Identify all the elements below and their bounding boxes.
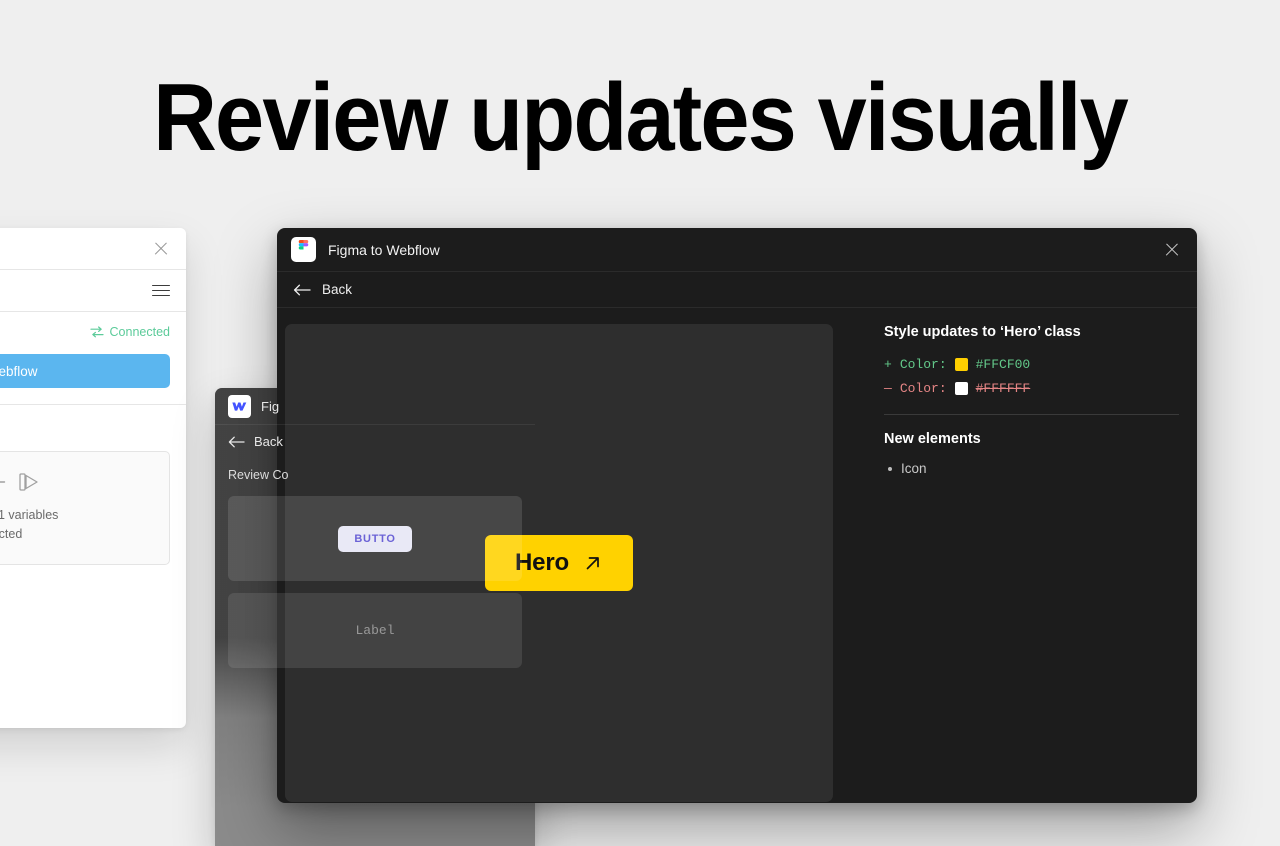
diff-op-added: +: [884, 357, 892, 372]
left-panel-divider: [0, 404, 186, 405]
diff-value-removed: #FFFFFF: [976, 381, 1031, 396]
close-icon[interactable]: [152, 240, 170, 258]
mid-panel-preview-card-2: Label: [228, 593, 522, 668]
mid-panel-title: Fig: [261, 399, 279, 414]
arrow-up-right-icon: [583, 553, 603, 573]
sync-arrows-icon: [90, 326, 105, 338]
window-title: Figma to Webflow: [328, 242, 440, 258]
list-item: Icon: [884, 459, 1179, 479]
connection-status-label: Connected: [110, 325, 170, 339]
webflow-logo-icon: [228, 395, 251, 418]
selection-summary-line2: selected: [0, 525, 153, 544]
hero-button-label: Hero: [515, 549, 569, 577]
style-updates-heading: Style updates to ‘Hero’ class: [884, 324, 1179, 340]
page-title: Review updates visually: [51, 66, 1229, 170]
color-swatch-added: [955, 358, 968, 371]
new-elements-heading: New elements: [884, 431, 1179, 447]
left-panel-header: system sync: [0, 270, 186, 312]
selection-summary-card: ents and 21 variables selected: [0, 451, 170, 565]
plus-icon: [0, 473, 7, 491]
style-change-added: + Color: #FFCF00: [884, 352, 1179, 376]
site-selector-row: l Site Connected: [0, 312, 186, 352]
arrow-left-icon: [293, 284, 311, 296]
left-panel-titlebar: [0, 228, 186, 270]
diff-value-added: #FFCF00: [976, 357, 1031, 372]
arrow-left-icon: [228, 436, 245, 448]
diff-property-added: Color:: [900, 357, 947, 372]
selection-summary-line1: ents and 21 variables: [0, 506, 153, 525]
mid-panel-section-label: Review Co: [215, 458, 535, 482]
back-button[interactable]: Back: [293, 282, 352, 297]
sync-to-webflow-button[interactable]: c to Webflow: [0, 354, 170, 388]
figma-logo-icon: [291, 237, 316, 262]
back-label: Back: [322, 282, 352, 297]
color-swatch-removed: [955, 382, 968, 395]
style-updates-pane: Style updates to ‘Hero’ class + Color: #…: [833, 324, 1197, 802]
mid-panel-subbar: Back: [215, 424, 535, 458]
connection-status: Connected: [90, 325, 170, 339]
style-variable-icon: [17, 470, 43, 494]
diff-property-removed: Color:: [900, 381, 947, 396]
button-chip: BUTTO: [338, 526, 411, 552]
close-icon[interactable]: [1163, 241, 1181, 259]
mid-panel-back-button[interactable]: Back: [228, 434, 283, 449]
new-elements-list: Icon: [884, 459, 1179, 479]
hamburger-menu-icon[interactable]: [152, 281, 170, 299]
selection-summary-icons: [0, 470, 153, 494]
window-titlebar: Figma to Webflow: [277, 228, 1197, 272]
label-text: Label: [355, 623, 394, 638]
mid-panel-preview-card-1: BUTTO: [228, 496, 522, 581]
pane-divider: [884, 414, 1179, 415]
mid-panel-titlebar: Fig: [215, 388, 535, 424]
style-change-removed: — Color: #FFFFFF: [884, 376, 1179, 400]
diff-op-removed: —: [884, 381, 892, 396]
mid-panel-back-label: Back: [254, 434, 283, 449]
figma-design-system-sync-panel: system sync l Site Connected c to Webflo…: [0, 228, 186, 728]
window-subbar: Back: [277, 272, 1197, 308]
